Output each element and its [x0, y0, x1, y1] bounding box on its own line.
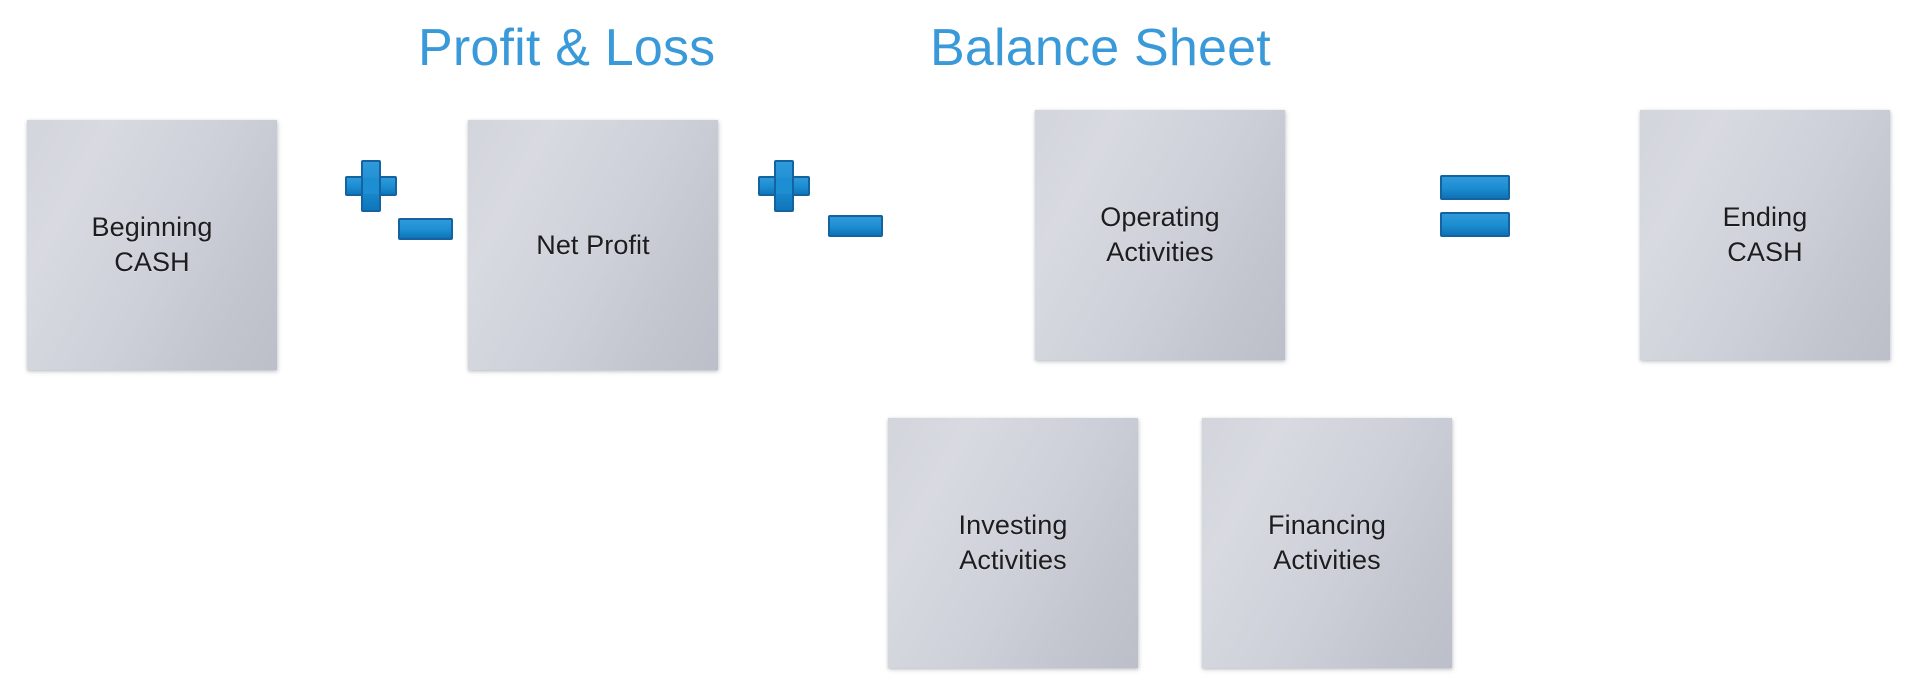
box-beginning-cash-label: Beginning CASH — [91, 210, 212, 279]
box-beginning-cash-line2: CASH — [114, 247, 189, 277]
box-operating-activities-line2: Activities — [1106, 237, 1214, 267]
minus-icon — [828, 215, 883, 237]
box-investing-activities[interactable]: Investing Activities — [888, 418, 1138, 668]
plus-icon-center-fill — [776, 178, 792, 194]
diagram-canvas: Profit & Loss Balance Sheet Beginning CA… — [0, 0, 1920, 697]
box-net-profit-label: Net Profit — [536, 228, 650, 263]
box-operating-activities-label: Operating Activities — [1100, 200, 1219, 269]
box-net-profit-line1: Net Profit — [536, 230, 650, 260]
plus-icon — [345, 160, 397, 212]
minus-icon — [398, 218, 453, 240]
box-ending-cash-label: Ending CASH — [1723, 200, 1808, 269]
section-heading-balance-sheet: Balance Sheet — [930, 22, 1271, 74]
box-operating-activities-line1: Operating — [1100, 202, 1219, 232]
box-financing-activities-line1: Financing — [1268, 510, 1386, 540]
plus-icon-center-fill — [363, 178, 379, 194]
box-financing-activities-line2: Activities — [1273, 545, 1381, 575]
box-financing-activities[interactable]: Financing Activities — [1202, 418, 1452, 668]
box-investing-activities-label: Investing Activities — [959, 508, 1068, 577]
box-financing-activities-label: Financing Activities — [1268, 508, 1386, 577]
box-investing-activities-line1: Investing — [959, 510, 1068, 540]
box-ending-cash-line1: Ending — [1723, 202, 1808, 232]
section-heading-profit-and-loss: Profit & Loss — [418, 22, 715, 74]
equals-icon-top-bar — [1440, 175, 1510, 200]
box-operating-activities[interactable]: Operating Activities — [1035, 110, 1285, 360]
plus-icon — [758, 160, 810, 212]
box-net-profit[interactable]: Net Profit — [468, 120, 718, 370]
box-ending-cash-line2: CASH — [1727, 237, 1802, 267]
box-investing-activities-line2: Activities — [959, 545, 1067, 575]
box-beginning-cash-line1: Beginning — [91, 212, 212, 242]
box-beginning-cash[interactable]: Beginning CASH — [27, 120, 277, 370]
box-ending-cash[interactable]: Ending CASH — [1640, 110, 1890, 360]
equals-icon — [1440, 175, 1510, 237]
equals-icon-bottom-bar — [1440, 212, 1510, 237]
